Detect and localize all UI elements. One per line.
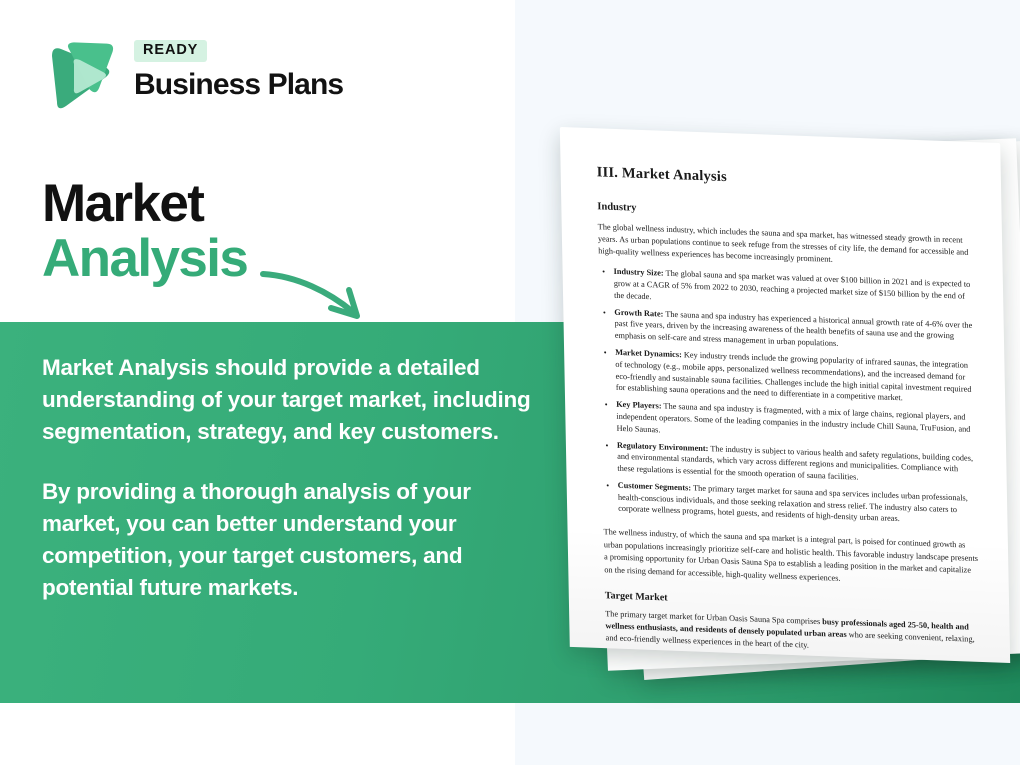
page-title: Market Analysis bbox=[42, 176, 247, 286]
bullet-text: The sauna and spa industry has experienc… bbox=[615, 309, 973, 348]
list-item: Regulatory Environment: The industry is … bbox=[617, 439, 977, 488]
document-subheading-industry: Industry bbox=[597, 201, 972, 226]
bullet-label: Customer Segments: bbox=[618, 481, 692, 493]
document-stack[interactable]: growth se inent. 021 and et size a rate … bbox=[505, 95, 1020, 675]
brand-name: Business Plans bbox=[134, 69, 343, 101]
brand-logo-block[interactable]: READY Business Plans bbox=[42, 36, 372, 118]
title-line-analysis: Analysis bbox=[42, 231, 247, 286]
slide-canvas: READY Business Plans Market Analysis Mar… bbox=[0, 0, 1020, 765]
list-item: Customer Segments: The primary target ma… bbox=[618, 480, 978, 529]
brand-text: READY Business Plans bbox=[134, 40, 343, 100]
bullet-label: Growth Rate: bbox=[614, 308, 663, 319]
title-line-market: Market bbox=[42, 176, 247, 231]
list-item: Key Players: The sauna and spa industry … bbox=[616, 399, 976, 448]
panel-paragraph-2: By providing a thorough analysis of your… bbox=[42, 476, 492, 604]
bullet-label: Market Dynamics: bbox=[615, 348, 682, 359]
list-item: Growth Rate: The sauna and spa industry … bbox=[614, 307, 974, 356]
front-document-sheet[interactable]: III. Market Analysis Industry The global… bbox=[560, 127, 1010, 663]
document-content: III. Market Analysis Industry The global… bbox=[560, 127, 1010, 663]
curved-arrow-down-right-icon bbox=[257, 264, 387, 326]
list-item: Industry Size: The global sauna and spa … bbox=[613, 266, 973, 315]
bullet-label: Industry Size: bbox=[614, 267, 664, 278]
bullet-label: Regulatory Environment: bbox=[617, 440, 709, 452]
bullet-label: Key Players: bbox=[616, 400, 662, 411]
bullet-text: The sauna and spa industry is fragmented… bbox=[616, 402, 970, 434]
panel-paragraph-1: Market Analysis should provide a detaile… bbox=[42, 352, 554, 448]
list-item: Market Dynamics: Key industry trends inc… bbox=[615, 347, 975, 407]
document-bullet-list: Industry Size: The global sauna and spa … bbox=[598, 266, 977, 529]
bullet-text: The global sauna and spa market was valu… bbox=[614, 269, 971, 301]
panel-copy: Market Analysis should provide a detaile… bbox=[42, 352, 554, 604]
document-heading: III. Market Analysis bbox=[597, 164, 972, 195]
play-logo-icon bbox=[42, 38, 116, 112]
ready-badge: READY bbox=[134, 40, 207, 62]
document-intro-paragraph: The global wellness industry, which incl… bbox=[598, 221, 973, 270]
document-closing-paragraph: The wellness industry, of which the saun… bbox=[603, 526, 978, 589]
